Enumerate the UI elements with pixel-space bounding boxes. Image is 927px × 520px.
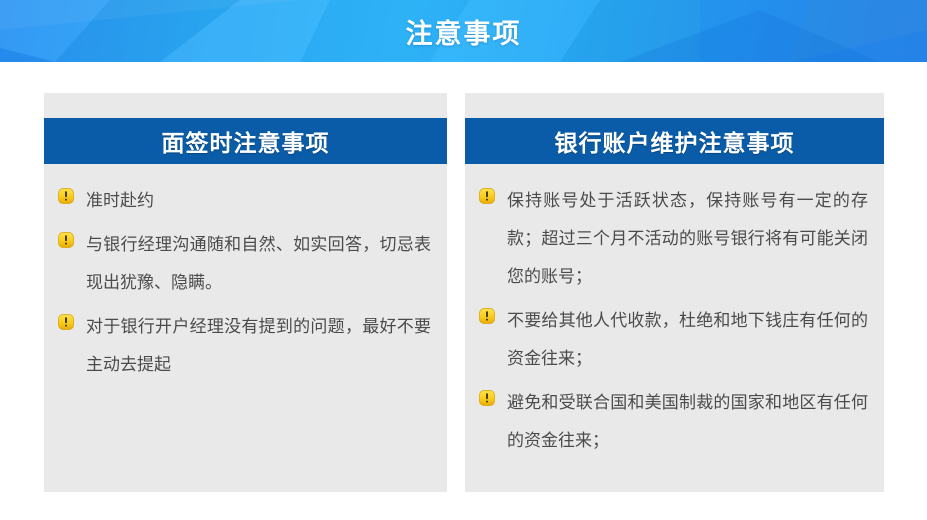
card-account-maintenance-notes: 银行账户维护注意事项 保持账号处于活跃状态，保持账号有一定的存款；超过三个月不活… [465, 93, 884, 492]
card-header-title: 银行账户维护注意事项 [555, 124, 795, 158]
card-interview-notes: 面签时注意事项 [44, 93, 447, 492]
list-item-text: 避免和受联合国和美国制裁的国家和地区有任何的资金往来； [507, 384, 868, 460]
card-header-interview-notes: 面签时注意事项 [44, 118, 447, 164]
card-header-account-maintenance-notes: 银行账户维护注意事项 [465, 118, 884, 164]
card-body-account-maintenance-notes: 保持账号处于活跃状态，保持账号有一定的存款；超过三个月不活动的账号银行将有可能关… [465, 164, 884, 466]
card-header-title: 面签时注意事项 [162, 124, 330, 158]
exclamation-icon [479, 188, 495, 204]
page-banner: 注意事项 [0, 0, 927, 62]
list-item: 避免和受联合国和美国制裁的国家和地区有任何的资金往来； [479, 384, 868, 460]
list-item: 不要给其他人代收款，杜绝和地下钱庄有任何的资金往来； [479, 302, 868, 378]
list-item-text: 不要给其他人代收款，杜绝和地下钱庄有任何的资金往来； [507, 302, 868, 378]
list-item: 准时赴约 [58, 182, 431, 220]
banner-title: 注意事项 [0, 0, 927, 62]
list-item-text: 准时赴约 [86, 182, 431, 220]
exclamation-icon [479, 390, 495, 406]
exclamation-icon [58, 232, 74, 248]
list-item: 对于银行开户经理没有提到的问题，最好不要主动去提起 [58, 308, 431, 384]
card-body-interview-notes: 准时赴约 与银行经理沟通随和自然、如实回答，切忌表现出犹豫、隐瞒。 [44, 164, 447, 390]
page-root: 注意事项 面签时注意事项 [0, 0, 927, 520]
exclamation-icon [58, 188, 74, 204]
list-item-text: 保持账号处于活跃状态，保持账号有一定的存款；超过三个月不活动的账号银行将有可能关… [507, 182, 868, 296]
exclamation-icon [58, 314, 74, 330]
list-item-text: 与银行经理沟通随和自然、如实回答，切忌表现出犹豫、隐瞒。 [86, 226, 431, 302]
list-item-text: 对于银行开户经理没有提到的问题，最好不要主动去提起 [86, 308, 431, 384]
list-item: 与银行经理沟通随和自然、如实回答，切忌表现出犹豫、隐瞒。 [58, 226, 431, 302]
exclamation-icon [479, 308, 495, 324]
list-item: 保持账号处于活跃状态，保持账号有一定的存款；超过三个月不活动的账号银行将有可能关… [479, 182, 868, 296]
